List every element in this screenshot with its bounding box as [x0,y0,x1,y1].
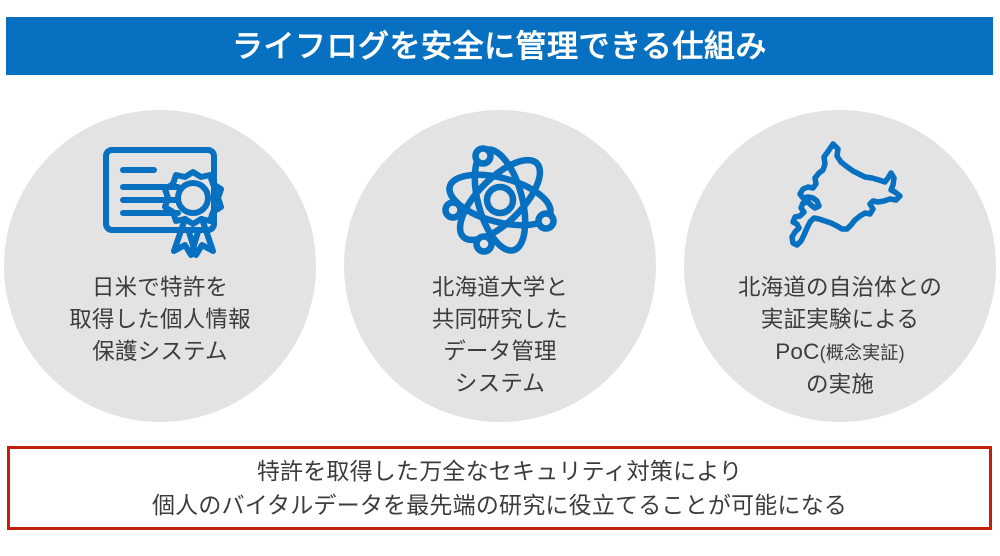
atom-icon [439,140,561,260]
feature-circle-row: 日米で特許を 取得した個人情報 保護システム 北海道大学と 共同研究した データ… [0,110,1000,422]
feature-circle-patent: 日米で特許を 取得した個人情報 保護システム [4,110,316,422]
feature-circle-poc: 北海道の自治体との実証実験によるPoC(概念実証)の実施 [684,110,996,422]
summary-callout-box: 特許を取得した万全なセキュリティ対策により 個人のバイタルデータを最先端の研究に… [7,446,992,530]
feature-caption: 北海道大学と 共同研究した データ管理 システム [432,272,568,400]
header-banner: ライフログを安全に管理できる仕組み [6,17,993,75]
feature-circle-research: 北海道大学と 共同研究した データ管理 システム [344,110,656,422]
caption-line-3-main: PoC [775,339,819,364]
page-title: ライフログを安全に管理できる仕組み [232,31,767,62]
feature-caption: 日米で特許を 取得した個人情報 保護システム [69,272,251,368]
hokkaido-map-icon [775,140,905,260]
certificate-award-icon [90,140,230,260]
caption-line-3-small: (概念実証) [820,343,905,363]
caption-line-1: 北海道の自治体との [738,275,942,300]
caption-line-2: 実証実験による [761,307,919,332]
summary-text: 特許を取得した万全なセキュリティ対策により 個人のバイタルデータを最先端の研究に… [152,454,847,522]
feature-caption: 北海道の自治体との実証実験によるPoC(概念実証)の実施 [738,272,942,401]
caption-line-4: の実施 [806,372,874,397]
